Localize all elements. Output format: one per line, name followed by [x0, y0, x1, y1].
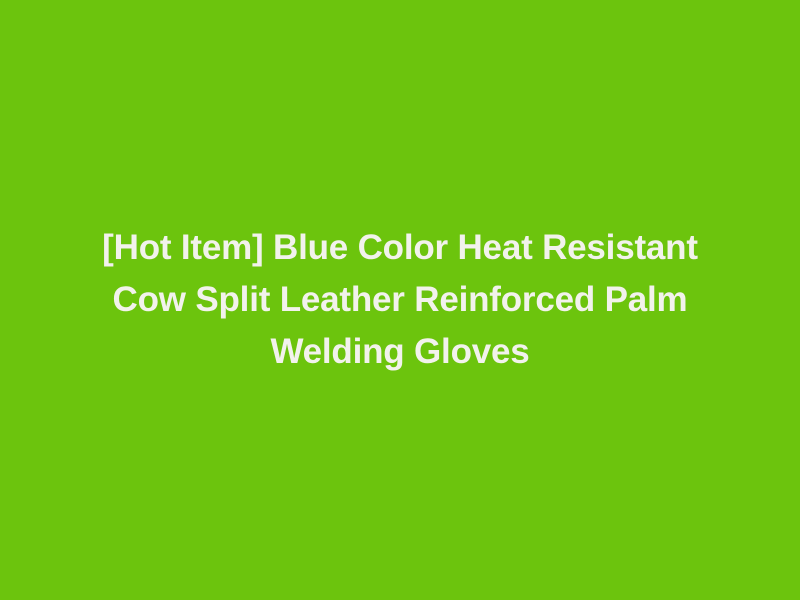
product-title: [Hot Item] Blue Color Heat Resistant Cow… — [50, 222, 750, 378]
product-title-line-1: [Hot Item] Blue Color Heat Resistant — [50, 222, 750, 274]
product-placeholder-card: [Hot Item] Blue Color Heat Resistant Cow… — [0, 0, 800, 600]
product-title-line-3: Welding Gloves — [50, 326, 750, 378]
product-title-line-2: Cow Split Leather Reinforced Palm — [50, 274, 750, 326]
